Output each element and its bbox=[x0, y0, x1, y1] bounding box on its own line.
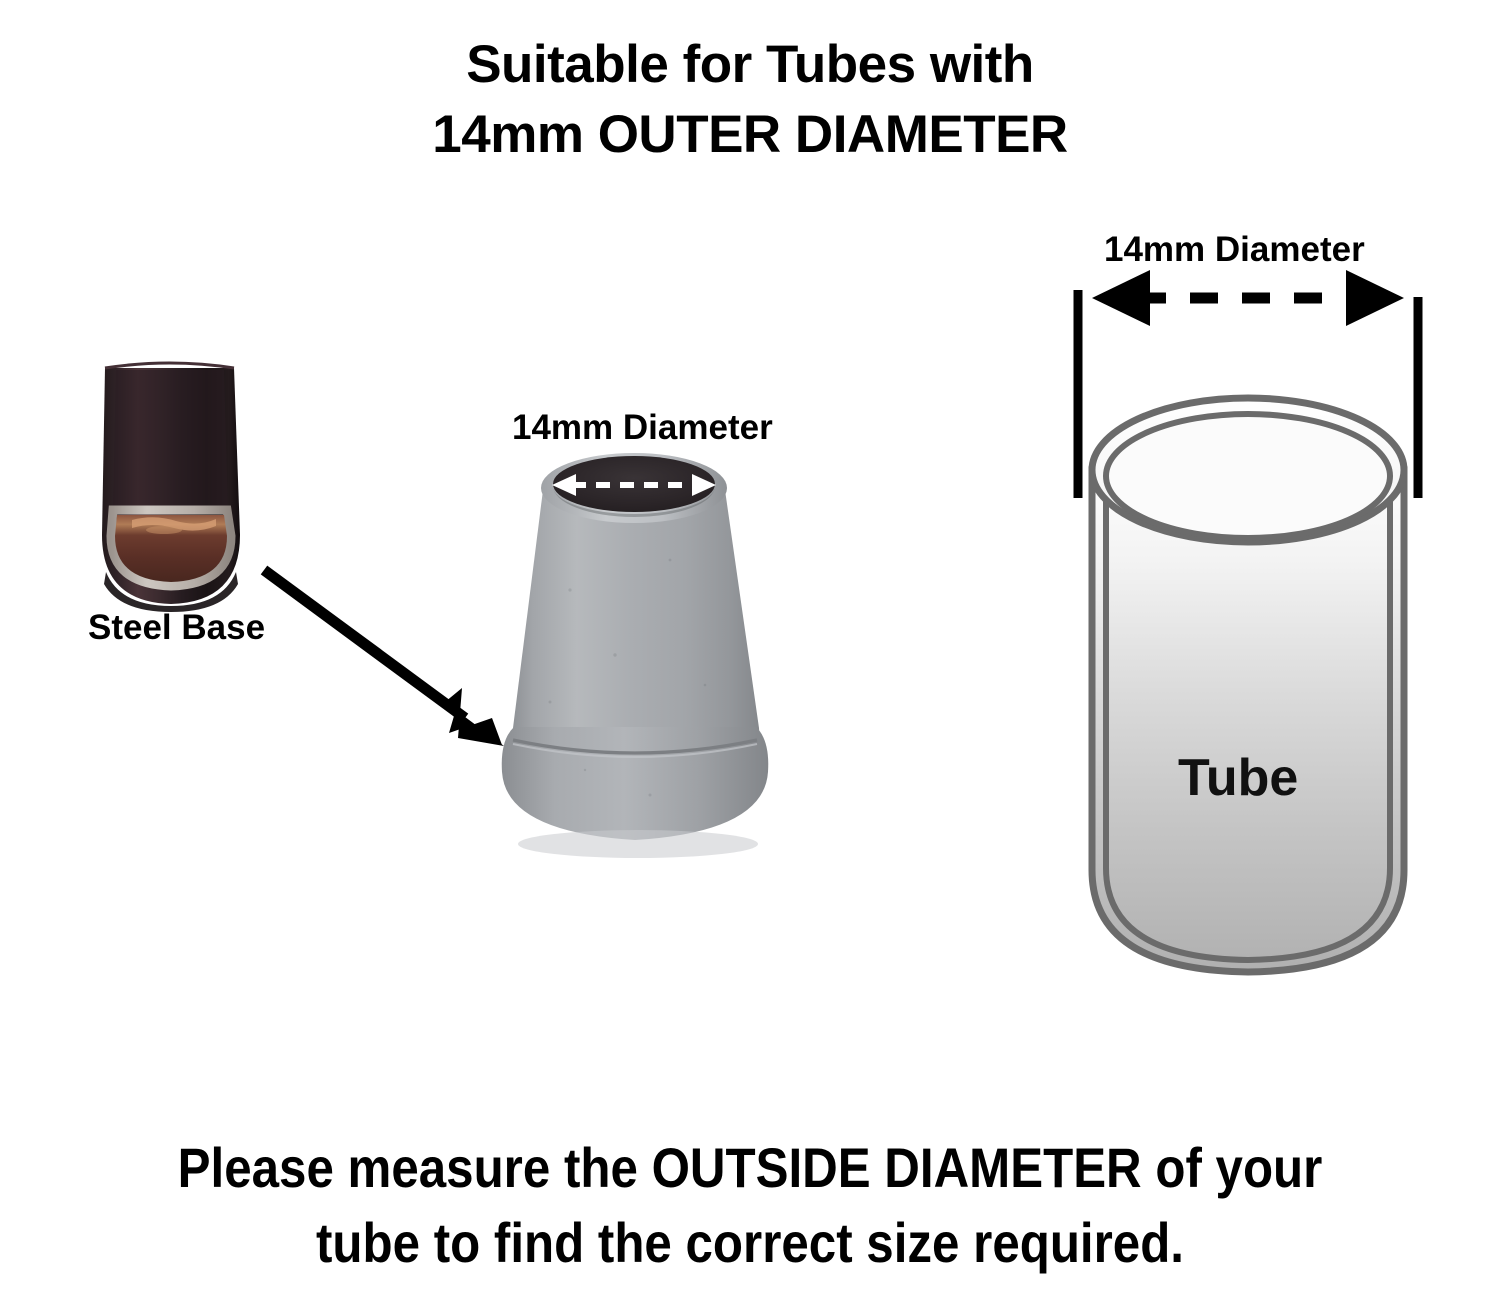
tube-dimension-label: 14mm Diameter bbox=[1104, 230, 1365, 270]
tube-arrowhead-left bbox=[1092, 270, 1150, 326]
rubber-sheen bbox=[113, 370, 228, 510]
page-title-line-2: 14mm OUTER DIAMETER bbox=[0, 100, 1500, 170]
tube-body-label: Tube bbox=[1178, 748, 1298, 808]
tube-dimension-arrow bbox=[1092, 270, 1404, 326]
instruction-note-line-2: tube to find the correct size required. bbox=[90, 1205, 1410, 1280]
instruction-note-line-1: Please measure the OUTSIDE DIAMETER of y… bbox=[90, 1130, 1410, 1205]
instruction-note: Please measure the OUTSIDE DIAMETER of y… bbox=[90, 1130, 1410, 1280]
ferrule-dimension-label: 14mm Diameter bbox=[512, 408, 773, 448]
ferrule-shadow bbox=[518, 830, 758, 858]
tube-rim-inner bbox=[1106, 414, 1390, 538]
rubber-top-edge bbox=[105, 363, 234, 368]
grey-ferrule-photo bbox=[480, 440, 830, 910]
tube-arrowhead-right bbox=[1346, 270, 1404, 326]
steel-glint bbox=[146, 526, 182, 534]
arrow-shaft bbox=[264, 570, 465, 718]
page-title: Suitable for Tubes with 14mm OUTER DIAME… bbox=[0, 30, 1500, 170]
tube-cylinder-diagram bbox=[1040, 270, 1460, 1030]
page-title-line-1: Suitable for Tubes with bbox=[0, 30, 1500, 100]
